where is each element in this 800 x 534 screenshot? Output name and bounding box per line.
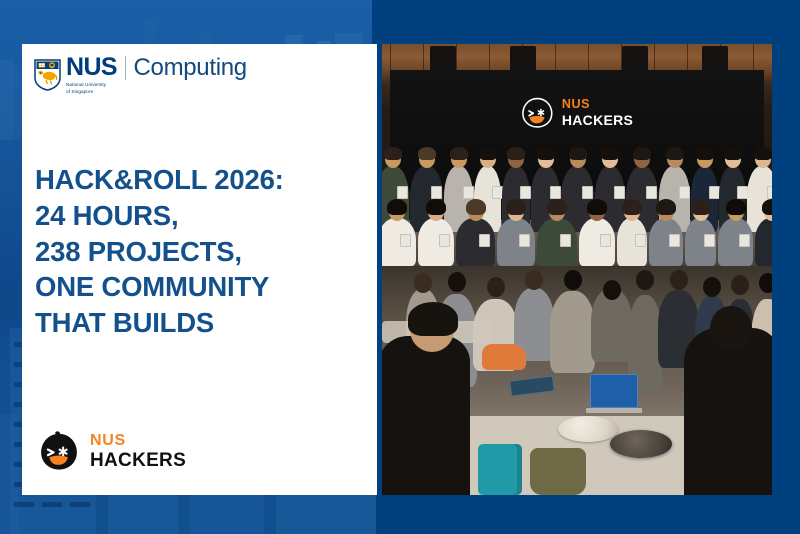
poster-canvas: NUS Computing National University of Sin… [0,0,800,534]
nus-subtitle-line2: of Singapore [66,89,247,95]
laptop-screen [590,374,638,408]
headline-line-4: ONE COMMUNITY [35,269,375,305]
headline: HACK&ROLL 2026: 24 HOURS, 238 PROJECTS, … [35,162,375,341]
nus-faculty-label: Computing [133,56,246,80]
nus-crest-icon [34,59,61,91]
nus-computing-logo: NUS Computing National University of Sin… [34,55,247,95]
nus-logo-divider [125,56,127,80]
foreground-person-left [382,336,470,495]
backdrop-text-hackers: HACKERS [562,113,633,127]
headline-line-5: THAT BUILDS [35,305,375,341]
foreground-person-right [684,328,772,495]
photo-column: NUS HACKERS TABLE Q [382,44,772,495]
backdrop-text-nus: NUS [562,98,633,111]
nus-hackers-duck-icon [37,429,81,473]
teal-suitcase [478,444,522,495]
hackers-logo-line1: NUS [90,433,186,449]
laptop-base [586,408,642,413]
photo-workshop: TABLE Quack Pot [382,266,772,495]
hackers-logo-line2: HACKERS [90,451,186,470]
orange-container [482,344,526,370]
foreground-person-right-head [710,306,752,350]
photo-group-shot: NUS HACKERS [382,44,772,266]
backdrop-duck-icon [521,96,554,129]
foreground-person-left-hair [408,302,458,336]
headline-line-3: 238 PROJECTS, [35,234,375,270]
nus-hackers-logo: NUS HACKERS [37,429,186,473]
backpack [530,448,586,495]
content-card: NUS Computing National University of Sin… [22,44,377,495]
plate-prop [558,416,618,442]
pan-prop [610,430,672,458]
backdrop-logo: NUS HACKERS [521,96,633,129]
nus-wordmark: NUS [66,55,117,80]
nus-subtitle: National University of Singapore [66,82,247,94]
headline-line-2: 24 HOURS, [35,198,375,234]
headline-line-1: HACK&ROLL 2026: [35,162,375,198]
